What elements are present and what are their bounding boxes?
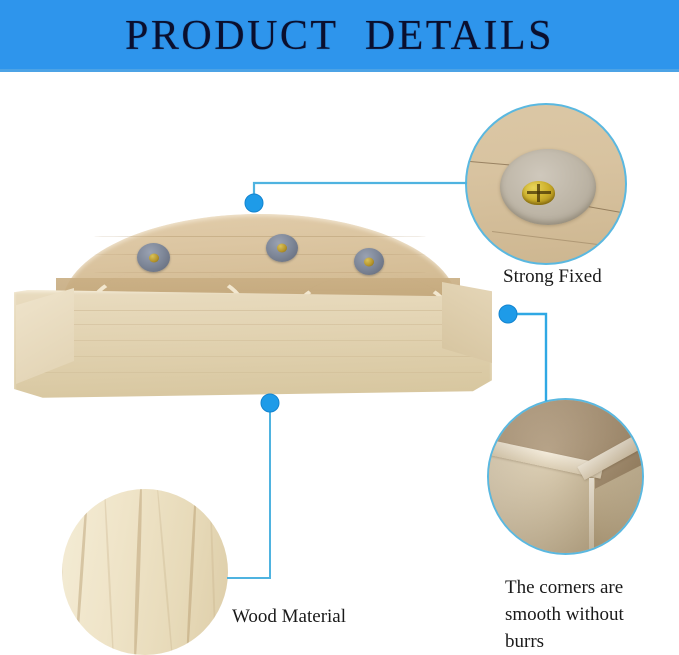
callout-label-strong-fixed: Strong Fixed <box>503 263 663 290</box>
screw-head-icon <box>522 181 555 205</box>
tray-front-panel <box>14 290 492 400</box>
main-product-image <box>14 212 494 402</box>
detail-circle-strong-fixed <box>465 103 627 265</box>
detail-circle-corners <box>487 398 644 555</box>
callout-label-wood-material: Wood Material <box>232 603 422 630</box>
product-details-infographic: PRODUCT DETAILS <box>0 0 679 655</box>
mount-screw-icon <box>354 248 384 275</box>
page-title: PRODUCT DETAILS <box>0 13 679 59</box>
detail-circle-wood-material <box>62 489 228 655</box>
callout-label-corners: The corners are smooth without burrs <box>505 574 679 655</box>
leader-strong-fixed <box>245 183 466 212</box>
leader-wood-material <box>228 394 279 578</box>
leader-corners <box>499 305 546 400</box>
corner-shading <box>489 400 642 553</box>
mount-screw-icon <box>266 234 298 262</box>
